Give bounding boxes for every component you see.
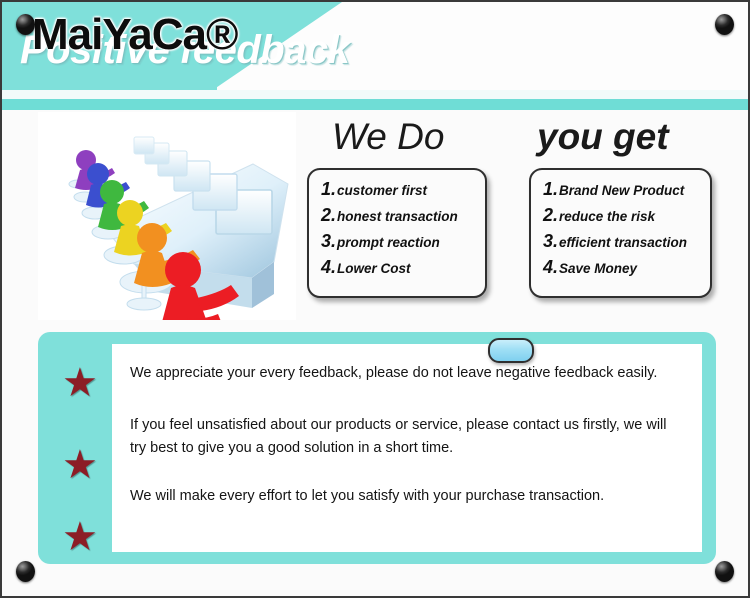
list-item-number: 4. [321, 258, 336, 276]
section-headings: We Do you get [302, 116, 742, 164]
office-workers-illustration [38, 112, 296, 320]
star-icon: ★ [62, 448, 96, 482]
bolt-icon-top-right [715, 14, 734, 35]
list-item-label: reduce the risk [559, 210, 655, 224]
office-workers-at-computers-icon [38, 112, 296, 320]
bolt-icon-top-left [16, 14, 35, 35]
list-item-number: 1. [543, 180, 558, 198]
list-item-number: 2. [321, 206, 336, 224]
connector-pill-shape [488, 338, 534, 363]
list-item: 4. Lower Cost [321, 258, 477, 276]
feedback-paragraph: We will make every effort to let you sat… [130, 485, 682, 507]
list-item: 1. customer first [321, 180, 477, 198]
list-item-label: Save Money [559, 262, 637, 276]
star-bullets-column: ★ ★ ★ [50, 344, 112, 552]
list-item: 2. reduce the risk [543, 206, 702, 224]
you-get-list-box: 1. Brand New Product 2. reduce the risk … [529, 168, 712, 298]
header-white-divider [2, 90, 748, 99]
list-item-label: Brand New Product [559, 184, 684, 198]
we-do-heading: We Do [332, 116, 444, 158]
list-item: 1. Brand New Product [543, 180, 702, 198]
star-icon: ★ [62, 366, 96, 400]
list-item: 3. prompt reaction [321, 232, 477, 250]
feedback-text-card: We appreciate your every feedback, pleas… [112, 344, 702, 552]
list-item-label: Lower Cost [337, 262, 411, 276]
list-item-label: prompt reaction [337, 236, 440, 250]
header-teal-divider [2, 99, 748, 110]
bolt-icon-bottom-right [715, 561, 734, 582]
feedback-banner: Positive feedback MaiYaCa® [0, 0, 750, 598]
bolt-icon-bottom-left [16, 561, 35, 582]
banner-header: Positive feedback MaiYaCa® [2, 2, 748, 90]
list-item-label: honest transaction [337, 210, 458, 224]
list-item: 2. honest transaction [321, 206, 477, 224]
list-item: 4. Save Money [543, 258, 702, 276]
feedback-paragraph: We appreciate your every feedback, pleas… [130, 362, 682, 384]
list-item-label: efficient transaction [559, 236, 687, 250]
list-item-number: 4. [543, 258, 558, 276]
feedback-paragraph: If you feel unsatisfied about our produc… [130, 414, 682, 459]
we-do-list-box: 1. customer first 2. honest transaction … [307, 168, 487, 298]
list-item-number: 2. [543, 206, 558, 224]
list-item-number: 3. [543, 232, 558, 250]
brand-logo-text: MaiYaCa® [32, 10, 237, 60]
top-section: We Do you get 1. customer first 2. hones… [2, 110, 748, 322]
list-item: 3. efficient transaction [543, 232, 702, 250]
banner-content: We Do you get 1. customer first 2. hones… [2, 110, 748, 596]
list-item-number: 3. [321, 232, 336, 250]
you-get-heading: you get [537, 116, 669, 158]
feedback-panel: ★ ★ ★ We appreciate your every feedback,… [38, 332, 716, 564]
star-icon: ★ [62, 520, 96, 554]
list-item-label: customer first [337, 184, 427, 198]
list-item-number: 1. [321, 180, 336, 198]
